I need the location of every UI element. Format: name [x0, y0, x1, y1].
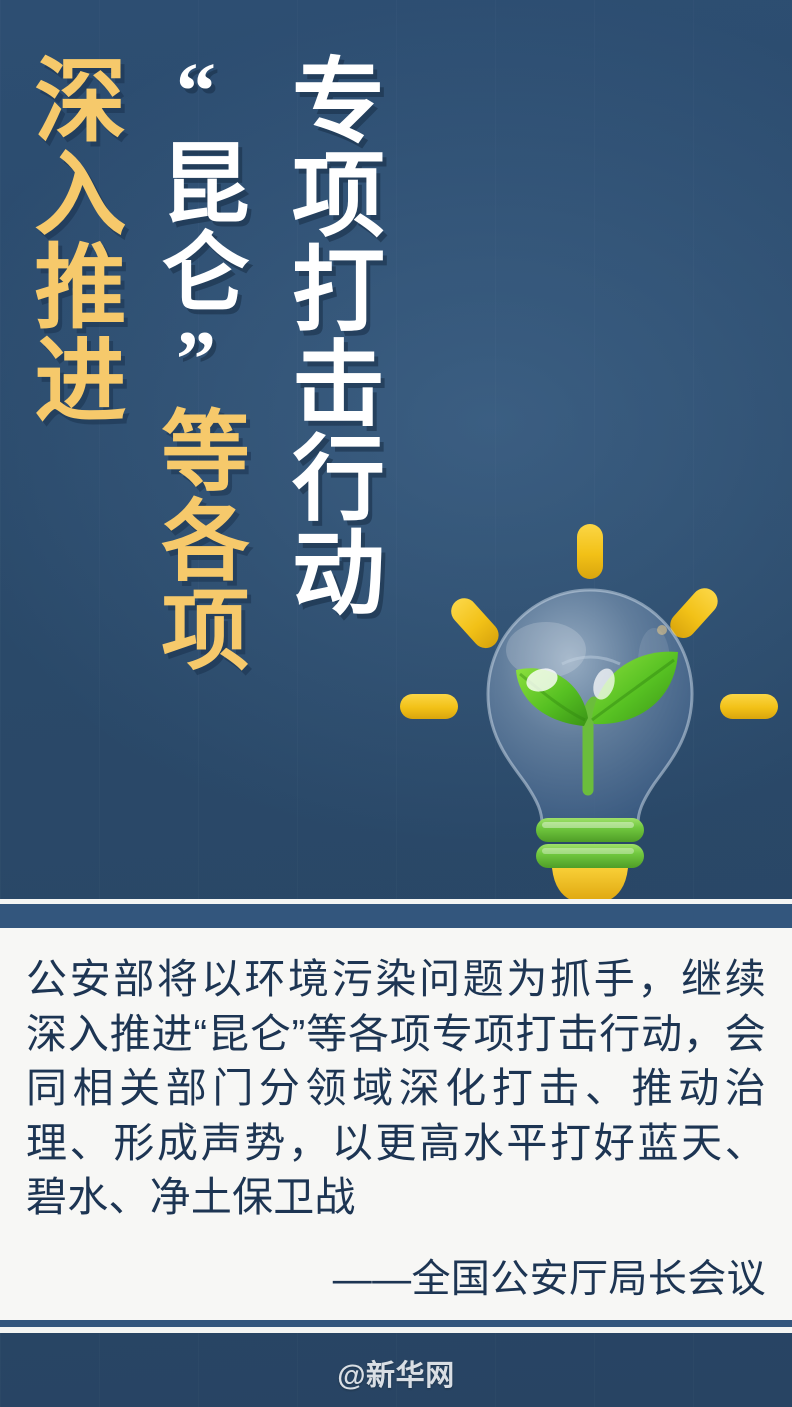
headline-kunlun: 昆仑: [148, 137, 245, 316]
headline-column-middle: “昆仑”等各项: [152, 48, 240, 673]
headline-column-action: 专项打击行动: [282, 52, 375, 618]
bulb-base: [536, 818, 644, 904]
poster-root: 专项打击行动 “昆仑”等各项 深入推进: [0, 0, 792, 1407]
divider-bottom: [0, 1327, 792, 1333]
quote-card: 公安部将以环境污染问题为抓手，继续深入推进“昆仑”等各项专项打击行动，会同相关部…: [0, 928, 792, 1320]
quote-close-mark: ”: [152, 316, 240, 405]
card-attribution: ——全国公安厅局长会议: [333, 1248, 766, 1304]
headline-column-gold: 深入推进: [26, 52, 118, 426]
card-body-text: 公安部将以环境污染问题为抓手，继续深入推进“昆仑”等各项专项打击行动，会同相关部…: [26, 952, 766, 1225]
headline-block: 专项打击行动 “昆仑”等各项 深入推进: [0, 0, 430, 880]
headline-dengexiang: 等各项: [148, 405, 245, 673]
band-bottom: [0, 1320, 792, 1327]
eco-lightbulb-icon: [392, 512, 782, 922]
band-top: [0, 904, 792, 928]
quote-open-mark: “: [152, 48, 240, 137]
watermark: @新华网: [0, 1352, 792, 1394]
